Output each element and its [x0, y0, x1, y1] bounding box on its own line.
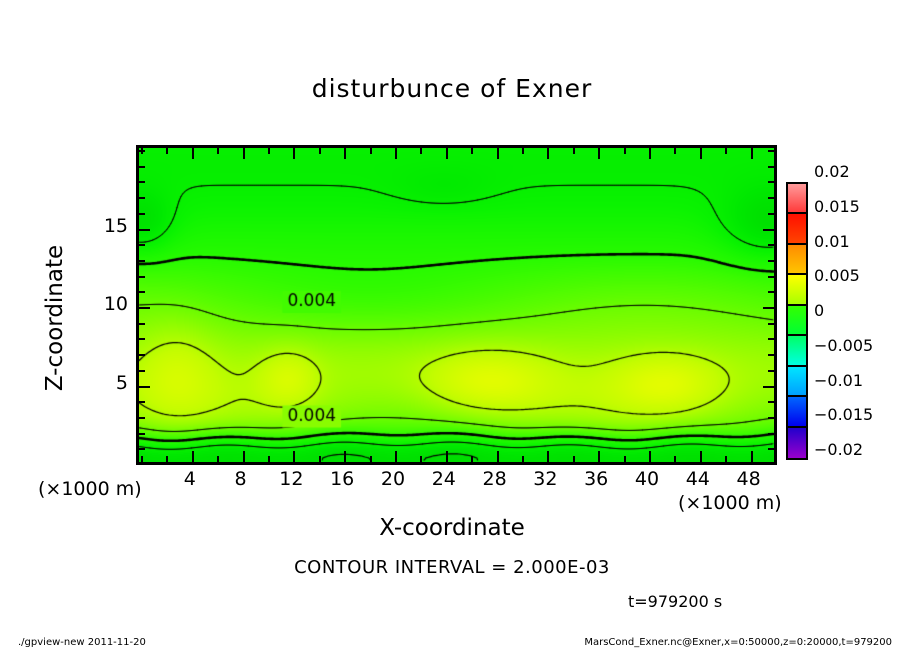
- y-axis-tick: [139, 291, 145, 293]
- x-axis-tick: [547, 148, 549, 159]
- y-axis-tick: [763, 307, 774, 309]
- x-axis-tick: [141, 456, 143, 462]
- x-axis-tick-label: 20: [373, 468, 413, 490]
- x-axis-tick-label: 24: [424, 468, 464, 490]
- y-axis-tick: [768, 181, 774, 183]
- x-axis-tick-label: 8: [221, 468, 261, 490]
- x-axis-tick: [700, 451, 702, 462]
- y-axis-tick: [139, 244, 145, 246]
- x-axis-tick: [217, 456, 219, 462]
- x-axis-tick: [192, 148, 194, 159]
- y-axis-tick: [768, 244, 774, 246]
- x-axis-tick: [497, 148, 499, 159]
- y-axis-tick: [139, 464, 145, 465]
- x-axis-tick: [725, 148, 727, 154]
- x-axis-tick: [547, 451, 549, 462]
- colorbar-band: [788, 367, 806, 397]
- y-axis-tick: [768, 276, 774, 278]
- colorbar: [786, 182, 808, 460]
- x-axis-tick: [751, 451, 753, 462]
- colorbar-tick-label: −0.01: [814, 371, 863, 390]
- y-axis-tick: [139, 260, 145, 262]
- x-axis-tick: [344, 148, 346, 159]
- y-axis-tick: [768, 260, 774, 262]
- colorbar-band: [788, 275, 806, 305]
- colorbar-tick-label: −0.02: [814, 440, 863, 459]
- x-axis-tick-label: 32: [525, 468, 565, 490]
- y-axis-tick: [139, 417, 145, 419]
- x-axis-tick: [624, 456, 626, 462]
- y-axis-tick: [768, 370, 774, 372]
- y-axis-tick: [768, 433, 774, 435]
- y-axis-tick: [139, 323, 145, 325]
- y-axis-tick: [768, 401, 774, 403]
- x-axis-tick: [268, 456, 270, 462]
- x-axis-unit-left: (×1000 m): [38, 478, 142, 500]
- x-axis-tick: [649, 148, 651, 159]
- x-axis-tick: [674, 148, 676, 154]
- y-axis-tick: [768, 150, 774, 152]
- y-axis-tick: [139, 386, 150, 388]
- y-axis-tick: [139, 338, 145, 340]
- x-axis-tick: [243, 148, 245, 159]
- x-axis-tick: [217, 148, 219, 154]
- y-axis-tick: [139, 401, 145, 403]
- x-axis-tick: [776, 148, 777, 154]
- x-axis-tick: [420, 148, 422, 154]
- contour-plot-area: [136, 145, 777, 465]
- x-axis-tick: [573, 148, 575, 154]
- x-axis-tick: [446, 451, 448, 462]
- x-axis-title: X-coordinate: [0, 515, 904, 541]
- x-axis-tick: [243, 451, 245, 462]
- x-axis-tick: [319, 148, 321, 154]
- x-axis-tick: [649, 451, 651, 462]
- y-axis-tick-label: 10: [88, 293, 128, 315]
- colorbar-band: [788, 184, 806, 214]
- y-axis-tick: [768, 464, 774, 465]
- x-axis-tick: [166, 148, 168, 154]
- x-axis-tick: [370, 148, 372, 154]
- x-axis-tick: [522, 148, 524, 154]
- x-axis-tick: [319, 456, 321, 462]
- x-axis-tick: [497, 451, 499, 462]
- y-axis-tick: [768, 291, 774, 293]
- y-axis-tick-label: 5: [88, 372, 128, 394]
- y-axis-tick: [768, 448, 774, 450]
- contour-field-canvas: [139, 148, 774, 462]
- y-axis-tick: [139, 370, 145, 372]
- x-axis-tick-label: 4: [170, 468, 210, 490]
- x-axis-tick: [293, 148, 295, 159]
- y-axis-tick: [139, 181, 145, 183]
- x-axis-tick: [700, 148, 702, 159]
- colorbar-tick-label: −0.015: [814, 405, 873, 424]
- x-axis-tick: [674, 456, 676, 462]
- x-axis-tick-label: 28: [475, 468, 515, 490]
- colorbar-tick-label: 0.02: [814, 162, 850, 181]
- colorbar-band: [788, 428, 806, 458]
- y-axis-tick: [139, 197, 145, 199]
- y-axis-tick: [768, 338, 774, 340]
- x-axis-tick: [471, 456, 473, 462]
- colorbar-band: [788, 306, 806, 336]
- time-annotation: t=979200 s: [628, 592, 722, 611]
- x-axis-tick-label: 36: [576, 468, 616, 490]
- y-axis-tick: [768, 166, 774, 168]
- colorbar-band: [788, 397, 806, 427]
- y-axis-tick: [139, 354, 145, 356]
- colorbar-tick-label: 0: [814, 301, 824, 320]
- x-axis-tick: [446, 148, 448, 159]
- x-axis-tick: [395, 148, 397, 159]
- x-axis-tick: [166, 456, 168, 462]
- x-axis-tick: [776, 456, 777, 462]
- x-axis-tick-label: 40: [627, 468, 667, 490]
- x-axis-tick-label: 48: [729, 468, 769, 490]
- x-axis-unit-right: (×1000 m): [678, 492, 782, 514]
- y-axis-title: Z-coordinate: [42, 218, 68, 418]
- colorbar-band: [788, 245, 806, 275]
- colorbar-band: [788, 336, 806, 366]
- colorbar-tick-label: −0.005: [814, 336, 873, 355]
- y-axis-tick: [139, 448, 145, 450]
- x-axis-tick: [573, 456, 575, 462]
- y-axis-tick: [139, 276, 145, 278]
- colorbar-tick-label: 0.015: [814, 197, 860, 216]
- colorbar-band: [788, 214, 806, 244]
- y-axis-tick: [763, 386, 774, 388]
- footer-command: ./gpview-new 2011-11-20: [18, 637, 146, 648]
- colorbar-tick-label: 0.005: [814, 266, 860, 285]
- x-axis-tick: [598, 148, 600, 159]
- y-axis-tick: [139, 166, 145, 168]
- y-axis-tick: [139, 307, 150, 309]
- x-axis-tick: [370, 456, 372, 462]
- x-axis-tick: [420, 456, 422, 462]
- page-title: disturbunce of Exner: [0, 74, 904, 103]
- colorbar-tick-label: 0.01: [814, 232, 850, 251]
- x-axis-tick: [293, 451, 295, 462]
- y-axis-tick: [139, 213, 145, 215]
- x-axis-tick: [395, 451, 397, 462]
- footer-source: MarsCond_Exner.nc@Exner,x=0:50000,z=0:20…: [584, 637, 892, 648]
- x-axis-tick-label: 12: [271, 468, 311, 490]
- y-axis-tick: [768, 323, 774, 325]
- y-axis-tick: [768, 354, 774, 356]
- x-axis-tick-label: 16: [322, 468, 362, 490]
- x-axis-tick: [471, 148, 473, 154]
- y-axis-tick: [763, 229, 774, 231]
- y-axis-tick: [768, 213, 774, 215]
- y-axis-tick: [139, 229, 150, 231]
- y-axis-tick: [768, 417, 774, 419]
- x-axis-tick: [522, 456, 524, 462]
- x-axis-tick: [192, 451, 194, 462]
- x-axis-tick: [751, 148, 753, 159]
- y-axis-tick: [139, 433, 145, 435]
- y-axis-tick-label: 15: [88, 215, 128, 237]
- y-axis-tick: [139, 150, 145, 152]
- x-axis-tick: [624, 148, 626, 154]
- y-axis-tick: [768, 197, 774, 199]
- x-axis-tick: [344, 451, 346, 462]
- x-axis-tick: [268, 148, 270, 154]
- x-axis-tick-label: 44: [678, 468, 718, 490]
- x-axis-tick: [598, 451, 600, 462]
- x-axis-tick: [725, 456, 727, 462]
- contour-interval-note: CONTOUR INTERVAL = 2.000E-03: [0, 557, 904, 578]
